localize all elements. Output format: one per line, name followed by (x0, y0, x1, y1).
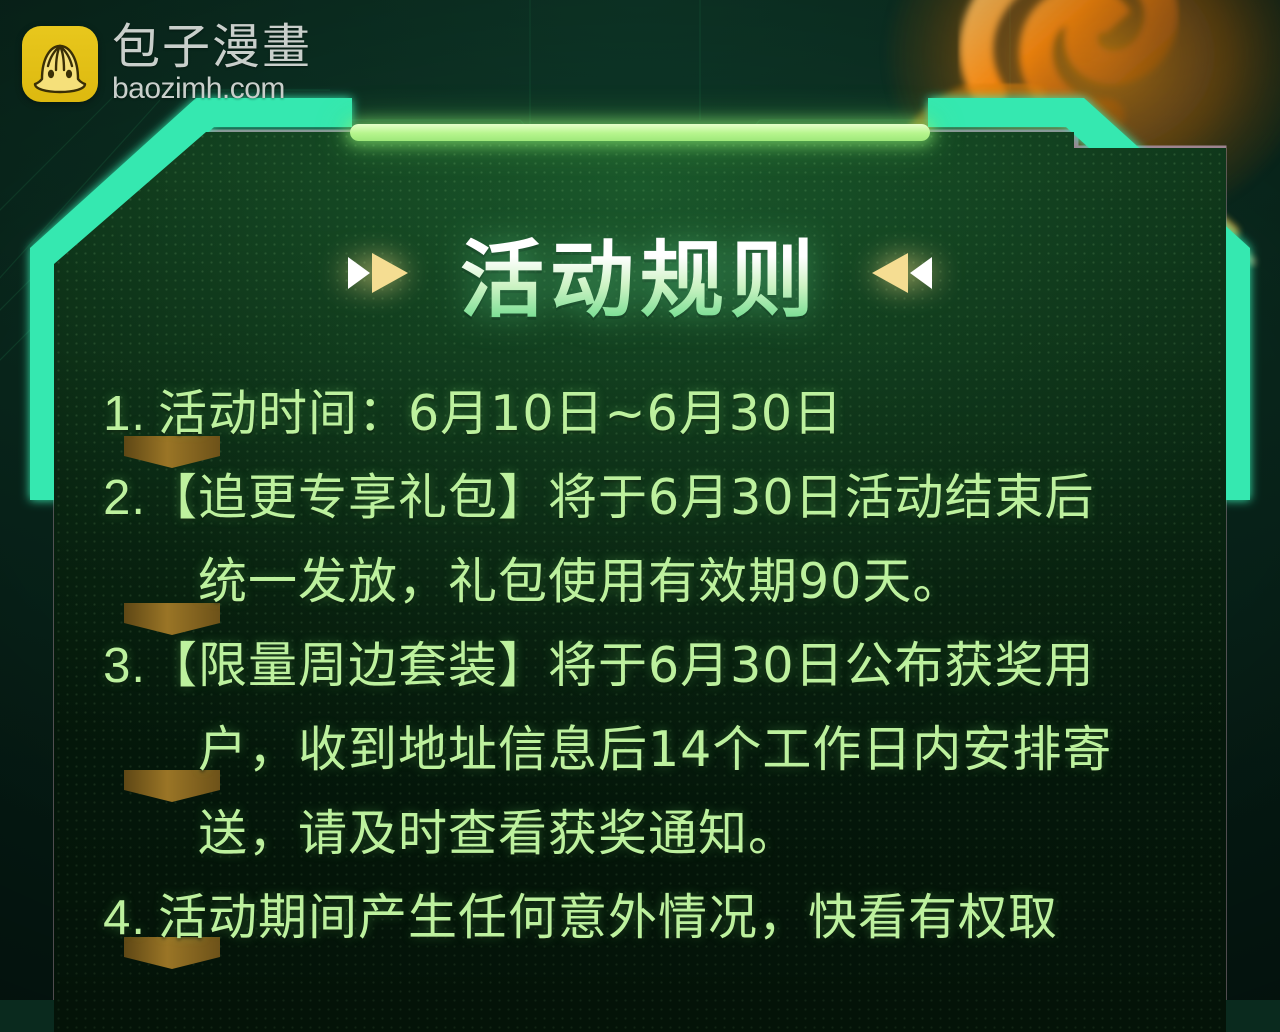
page-title: 活动规则 (460, 213, 820, 334)
baozi-bun-icon (22, 26, 98, 102)
brand-name: 包子漫畫 (112, 24, 312, 72)
rule-text: 活动时间：6月10日~6月30日 (158, 372, 843, 456)
rule-text: 送，请及时查看获奖通知。 (158, 792, 798, 876)
rule-item: 1. 活动时间：6月10日~6月30日 (54, 372, 1226, 456)
double-triangle-left-icon (866, 249, 936, 297)
rules-list: 1. 活动时间：6月10日~6月30日 2. 【追更专享礼包】将于6月30日活动… (54, 372, 1226, 960)
top-glow-bar (350, 124, 930, 141)
rule-text: 统一发放，礼包使用有效期90天。 (158, 540, 962, 624)
brand-watermark: 包子漫畫 baozimh.com (22, 24, 312, 104)
rule-number: 4. (54, 876, 158, 960)
rule-item: 2. 【追更专享礼包】将于6月30日活动结束后 (54, 456, 1226, 540)
rule-item-continuation: 2. 统一发放，礼包使用有效期90天。 (54, 540, 1226, 624)
rule-text: 【限量周边套装】将于6月30日公布获奖用 (148, 624, 1095, 708)
rule-number: 1. (54, 372, 158, 456)
rule-text: 户，收到地址信息后14个工作日内安排寄 (158, 708, 1112, 792)
rule-item-continuation: 3. 户，收到地址信息后14个工作日内安排寄 (54, 708, 1226, 792)
rule-number: 3. (54, 624, 148, 708)
rule-number: 2. (54, 456, 148, 540)
rule-text: 【追更专享礼包】将于6月30日活动结束后 (148, 456, 1095, 540)
double-triangle-right-icon (344, 249, 414, 297)
rule-item: 3. 【限量周边套装】将于6月30日公布获奖用 (54, 624, 1226, 708)
brand-url: baozimh.com (112, 74, 312, 104)
rule-item-continuation: 3. 送，请及时查看获奖通知。 (54, 792, 1226, 876)
rule-item: 4. 活动期间产生任何意外情况，快看有权取 (54, 876, 1226, 960)
rule-text: 活动期间产生任何意外情况，快看有权取 (158, 876, 1058, 960)
section-title-row: 活动规则 (0, 218, 1280, 328)
